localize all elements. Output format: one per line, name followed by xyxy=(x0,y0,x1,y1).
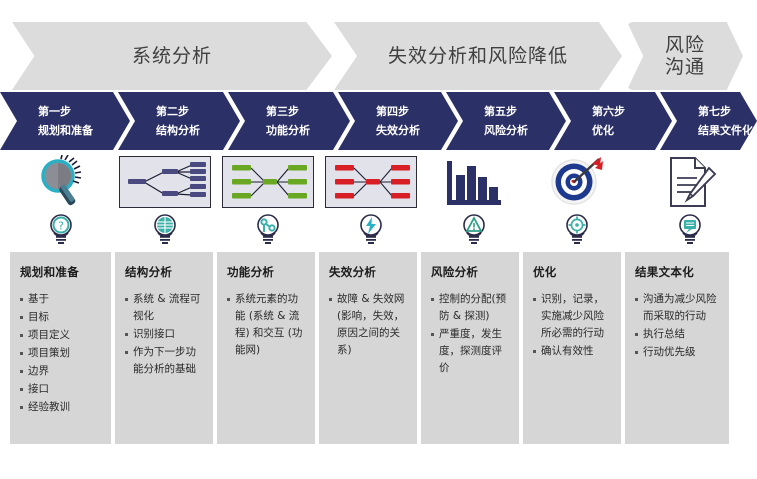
icon-cell-6 xyxy=(525,152,628,252)
detail-card-5: 风险分析 控制的分配(预防 & 探测) 严重度，发生度，探测度评价 xyxy=(421,252,519,444)
lightbulb-warning-icon xyxy=(459,212,489,248)
card-bullet-list: 控制的分配(预防 & 探测) 严重度，发生度，探测度评价 xyxy=(431,291,511,377)
list-item: 接口 xyxy=(20,381,103,398)
phase-banner-row: 系统分析 失效分析和风险降低 风险 沟通 xyxy=(0,22,757,90)
step-ordinal: 第三步 xyxy=(266,102,350,121)
icon-cell-1: ? xyxy=(8,152,113,252)
fmea-process-diagram: 系统分析 失效分析和风险降低 风险 沟通 第一步 规划和准备 第二步 结构分析 … xyxy=(0,0,757,479)
list-item: 项目策划 xyxy=(20,345,103,362)
phase-banner-system-analysis: 系统分析 xyxy=(12,22,332,90)
detail-card-7: 结果文本化 沟通为减少风险而采取的行动 执行总结 行动优先级 xyxy=(625,252,729,444)
card-bullet-list: 沟通为减少风险而采取的行动 执行总结 行动优先级 xyxy=(635,291,721,361)
list-item: 边界 xyxy=(20,363,103,380)
step-title: 结构分析 xyxy=(156,121,240,140)
lightbulb-failure-icon xyxy=(356,212,386,248)
card-title: 失效分析 xyxy=(329,264,409,280)
step-ordinal: 第一步 xyxy=(38,102,130,121)
card-title: 优化 xyxy=(533,264,613,280)
list-item: 控制的分配(预防 & 探测) xyxy=(431,291,511,325)
step-chevron-4[interactable]: 第四步 失效分析 xyxy=(338,92,458,150)
lightbulb-function-icon xyxy=(253,212,283,248)
phase-banner-failure-risk: 失效分析和风险降低 xyxy=(334,22,622,90)
step-chevron-5[interactable]: 第五步 风险分析 xyxy=(446,92,566,150)
icon-cell-5 xyxy=(422,152,525,252)
document-pencil-icon xyxy=(644,154,736,210)
step-ordinal: 第六步 xyxy=(592,102,672,121)
function-net-green-diagram-icon xyxy=(222,154,314,210)
card-title: 风险分析 xyxy=(431,264,511,280)
step-title: 失效分析 xyxy=(376,121,458,140)
lightbulb-network-icon xyxy=(150,212,180,248)
list-item: 基于 xyxy=(20,291,103,308)
detail-card-1: 规划和准备 基于 目标 项目定义 项目策划 边界 接口 经验教训 xyxy=(10,252,111,444)
list-item: 故障 & 失效网(影响，失效，原因之间的关系) xyxy=(329,291,409,359)
card-title: 结果文本化 xyxy=(635,264,721,280)
icon-cell-4 xyxy=(319,152,422,252)
phase-banner-risk-communication: 风险 沟通 xyxy=(627,22,743,90)
detail-card-4: 失效分析 故障 & 失效网(影响，失效，原因之间的关系) xyxy=(319,252,417,444)
card-bullet-list: 故障 & 失效网(影响，失效，原因之间的关系) xyxy=(329,291,409,359)
step-title: 规划和准备 xyxy=(38,121,130,140)
icon-cell-7 xyxy=(628,152,752,252)
step-title: 风险分析 xyxy=(484,121,566,140)
icon-row: ? xyxy=(0,152,757,252)
step-chevron-band: 第一步 规划和准备 第二步 结构分析 第三步 功能分析 第四步 失效分析 第五步… xyxy=(0,92,757,150)
list-item: 识别，记录，实施减少风险所必需的行动 xyxy=(533,291,613,342)
list-item: 执行总结 xyxy=(635,326,721,343)
list-item: 系统 & 流程可视化 xyxy=(125,291,205,325)
svg-text:?: ? xyxy=(58,220,64,233)
phase-label: 失效分析和风险降低 xyxy=(388,45,568,67)
card-bullet-list: 系统元素的功能 (系统 & 流程) 和交互 (功能网) xyxy=(227,291,307,359)
step-chevron-7[interactable]: 第七步 结果文件化 xyxy=(660,92,757,150)
lightbulb-question-icon: ? xyxy=(46,212,76,248)
card-title: 功能分析 xyxy=(227,264,307,280)
step-title: 功能分析 xyxy=(266,121,350,140)
card-bullet-list: 基于 目标 项目定义 项目策划 边界 接口 经验教训 xyxy=(20,291,103,416)
step-chevron-1[interactable]: 第一步 规划和准备 xyxy=(0,92,130,150)
step-title: 优化 xyxy=(592,121,672,140)
step-ordinal: 第七步 xyxy=(698,102,757,121)
structure-tree-diagram-icon xyxy=(119,154,211,210)
list-item: 项目定义 xyxy=(20,327,103,344)
detail-card-2: 结构分析 系统 & 流程可视化 识别接口 作为下一步功能分析的基础 xyxy=(115,252,213,444)
card-title: 结构分析 xyxy=(125,264,205,280)
icon-cell-3 xyxy=(216,152,319,252)
target-dartboard-icon xyxy=(531,154,623,210)
phase-label-line1: 风险 xyxy=(665,34,705,56)
card-bullet-list: 识别，记录，实施减少风险所必需的行动 确认有效性 xyxy=(533,291,613,360)
magnifying-glass-icon xyxy=(15,154,107,210)
failure-net-red-diagram-icon xyxy=(325,154,417,210)
detail-card-6: 优化 识别，记录，实施减少风险所必需的行动 确认有效性 xyxy=(523,252,621,444)
list-item: 行动优先级 xyxy=(635,344,721,361)
step-ordinal: 第二步 xyxy=(156,102,240,121)
list-item: 识别接口 xyxy=(125,326,205,343)
list-item: 严重度，发生度，探测度评价 xyxy=(431,326,511,377)
card-title: 规划和准备 xyxy=(20,264,103,280)
step-ordinal: 第五步 xyxy=(484,102,566,121)
detail-card-3: 功能分析 系统元素的功能 (系统 & 流程) 和交互 (功能网) xyxy=(217,252,315,444)
card-bullet-list: 系统 & 流程可视化 识别接口 作为下一步功能分析的基础 xyxy=(125,291,205,378)
lightbulb-document-icon xyxy=(675,212,705,248)
step-chevron-6[interactable]: 第六步 优化 xyxy=(554,92,672,150)
list-item: 经验教训 xyxy=(20,399,103,416)
icon-cell-2 xyxy=(113,152,216,252)
list-item: 目标 xyxy=(20,309,103,326)
list-item: 沟通为减少风险而采取的行动 xyxy=(635,291,721,325)
list-item: 系统元素的功能 (系统 & 流程) 和交互 (功能网) xyxy=(227,291,307,359)
bar-chart-icon xyxy=(428,154,520,210)
phase-label-line2: 沟通 xyxy=(665,56,705,78)
phase-label: 系统分析 xyxy=(132,45,212,67)
detail-cards-row: 规划和准备 基于 目标 项目定义 项目策划 边界 接口 经验教训 结构分析 系统… xyxy=(0,252,757,479)
step-chevron-2[interactable]: 第二步 结构分析 xyxy=(118,92,240,150)
lightbulb-target-icon xyxy=(562,212,592,248)
list-item: 确认有效性 xyxy=(533,343,613,360)
list-item: 作为下一步功能分析的基础 xyxy=(125,344,205,378)
step-chevron-3[interactable]: 第三步 功能分析 xyxy=(228,92,350,150)
step-ordinal: 第四步 xyxy=(376,102,458,121)
step-title: 结果文件化 xyxy=(698,121,757,140)
